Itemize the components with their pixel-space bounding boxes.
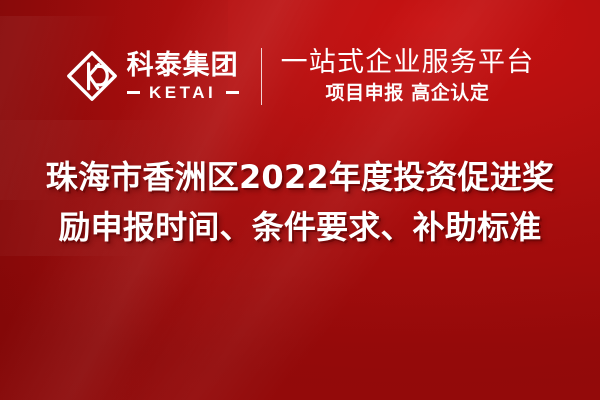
banner-header: 科泰集团 KETAI 一站式企业服务平台 项目申报 高企认定 [0, 38, 600, 114]
logo-name-en-row: KETAI [127, 84, 239, 101]
page-title-line-2: 励申报时间、条件要求、补助标准 [0, 202, 600, 252]
logo-mark [66, 50, 118, 102]
page-title: 珠海市香洲区2022年度投资促进奖 励申报时间、条件要求、补助标准 [0, 152, 600, 252]
header-divider [261, 48, 262, 105]
logo-wordmark: 科泰集团 KETAI [127, 52, 239, 101]
tagline-main: 一站式企业服务平台 [281, 48, 535, 77]
logo-dash-right-icon [226, 91, 239, 94]
tagline-sub: 项目申报 高企认定 [281, 84, 535, 104]
page-title-line-1: 珠海市香洲区2022年度投资促进奖 [0, 152, 600, 202]
background-bottom-shade [0, 264, 600, 400]
ketai-diamond-kd-monogram-icon [66, 50, 118, 102]
brand-lockup: 科泰集团 KETAI [66, 50, 239, 102]
logo-name-cn: 科泰集团 [127, 52, 239, 79]
logo-name-en: KETAI [145, 84, 221, 101]
tagline-block: 一站式企业服务平台 项目申报 高企认定 [281, 48, 535, 104]
logo-dash-left-icon [127, 91, 140, 94]
promotional-banner: 科泰集团 KETAI 一站式企业服务平台 项目申报 高企认定 珠海市香洲区202… [0, 0, 600, 400]
